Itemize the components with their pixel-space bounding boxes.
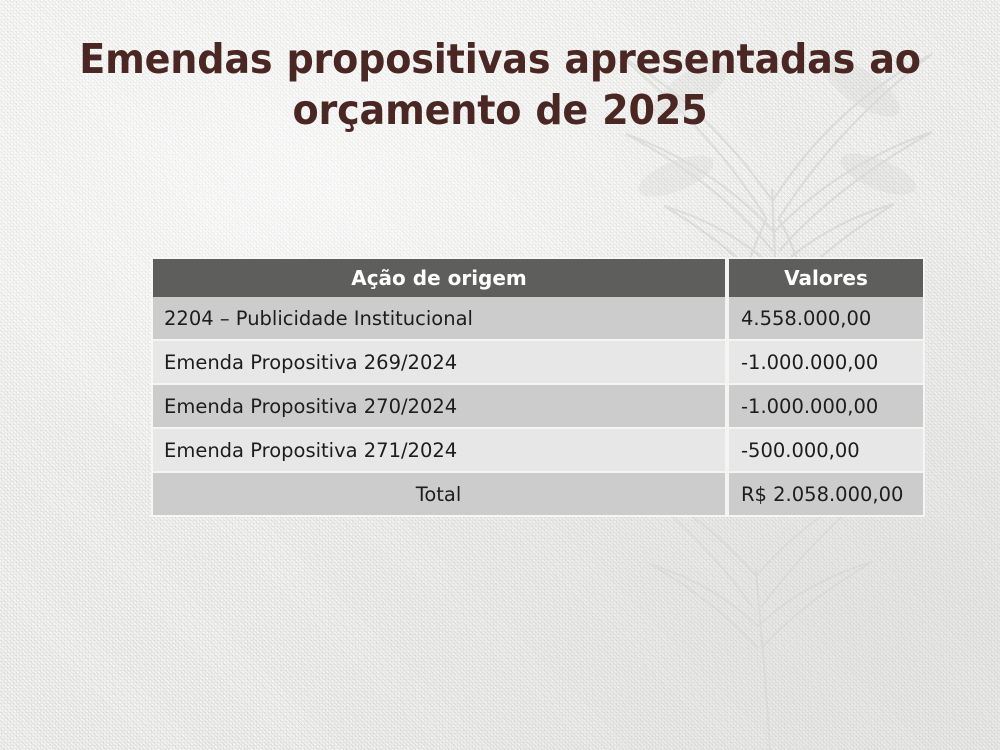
slide-title-line-1: Emendas propositivas apresentadas ao	[35, 34, 965, 85]
cell-action: 2204 – Publicidade Institucional	[153, 297, 729, 341]
column-header-value: Valores	[729, 259, 923, 297]
table-body: 2204 – Publicidade Institucional 4.558.0…	[153, 297, 923, 515]
table-header: Ação de origem Valores	[153, 259, 923, 297]
column-header-action: Ação de origem	[153, 259, 729, 297]
slide-canvas: Emendas propositivas apresentadas ao orç…	[0, 0, 1000, 750]
slide-title: Emendas propositivas apresentadas ao orç…	[35, 34, 965, 136]
table-total-row: Total R$ 2.058.000,00	[153, 473, 923, 515]
cell-action: Emenda Propositiva 270/2024	[153, 385, 729, 429]
cell-value: -1.000.000,00	[729, 385, 923, 429]
budget-amendments-table: Ação de origem Valores 2204 – Publicidad…	[153, 259, 923, 515]
cell-total-value: R$ 2.058.000,00	[729, 473, 923, 515]
cell-value: -1.000.000,00	[729, 341, 923, 385]
budget-amendments-table-container: Ação de origem Valores 2204 – Publicidad…	[153, 259, 923, 515]
cell-action: Emenda Propositiva 271/2024	[153, 429, 729, 473]
cell-total-label: Total	[153, 473, 729, 515]
table-row: Emenda Propositiva 271/2024 -500.000,00	[153, 429, 923, 473]
cell-action: Emenda Propositiva 269/2024	[153, 341, 729, 385]
cell-value: -500.000,00	[729, 429, 923, 473]
slide-title-line-2: orçamento de 2025	[35, 85, 965, 136]
table-row: 2204 – Publicidade Institucional 4.558.0…	[153, 297, 923, 341]
table-row: Emenda Propositiva 270/2024 -1.000.000,0…	[153, 385, 923, 429]
table-row: Emenda Propositiva 269/2024 -1.000.000,0…	[153, 341, 923, 385]
cell-value: 4.558.000,00	[729, 297, 923, 341]
table-header-row: Ação de origem Valores	[153, 259, 923, 297]
